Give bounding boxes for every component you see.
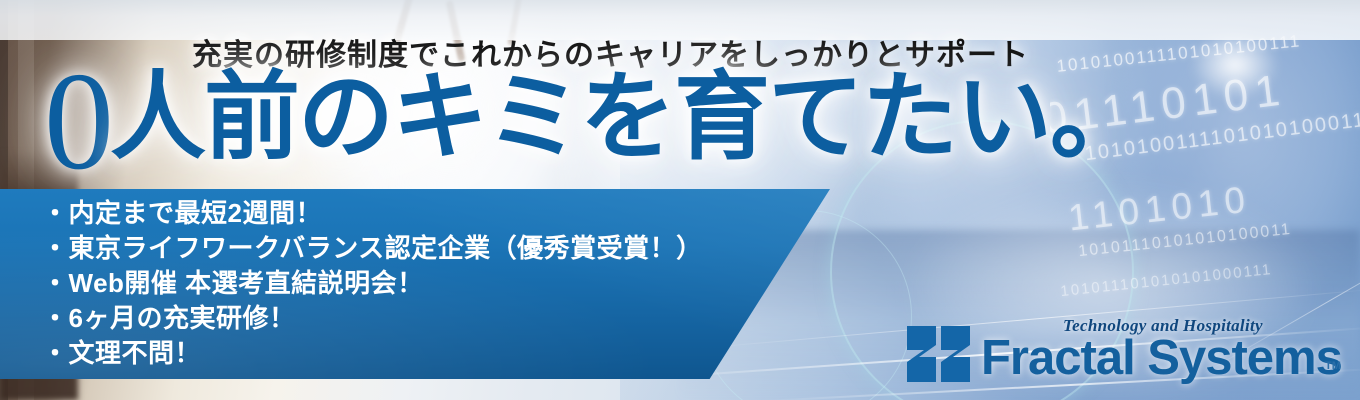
headline-zero-numeral: 0 [44,44,110,199]
logo-wordmark: Fractal Systems [981,330,1342,386]
background-person-white-shirt-4 [1120,0,1360,310]
headline-group: 充実の研修制度でこれからのキャリアをしっかりとサポート 0人前のキミを育てたい。 [0,0,1100,190]
list-item: ・6ヶ月の充実研修！ [42,301,703,336]
double-lightning-bolt-icon [905,324,973,384]
background-lens-flare [1190,30,1280,100]
binary-code-row: 10101110101010100011 [1078,221,1293,261]
list-item: ・東京ライフワークバランス認定企業（優秀賞受賞！） [42,231,703,266]
list-item: ・Web開催 本選考直結説明会！ [42,266,703,301]
recruitment-hero-banner: 1010100111101010100111 01110101 10101001… [0,0,1360,400]
headline-main-text: 人前のキミを育てたい。 [110,64,1144,171]
company-logo[interactable]: Technology and Hospitality Fractal Syste… [905,316,1355,392]
list-item: ・内定まで最短2週間！ [42,196,703,231]
list-item: ・文理不問！ [42,336,703,371]
feature-bullet-list: ・内定まで最短2週間！ ・東京ライフワークバランス認定企業（優秀賞受賞！） ・W… [42,196,703,371]
trademark-symbol: TM [1325,360,1341,372]
page-title: 0人前のキミを育てたい。 [44,52,1144,192]
binary-code-row: 101011101010101000111 [1060,261,1273,300]
